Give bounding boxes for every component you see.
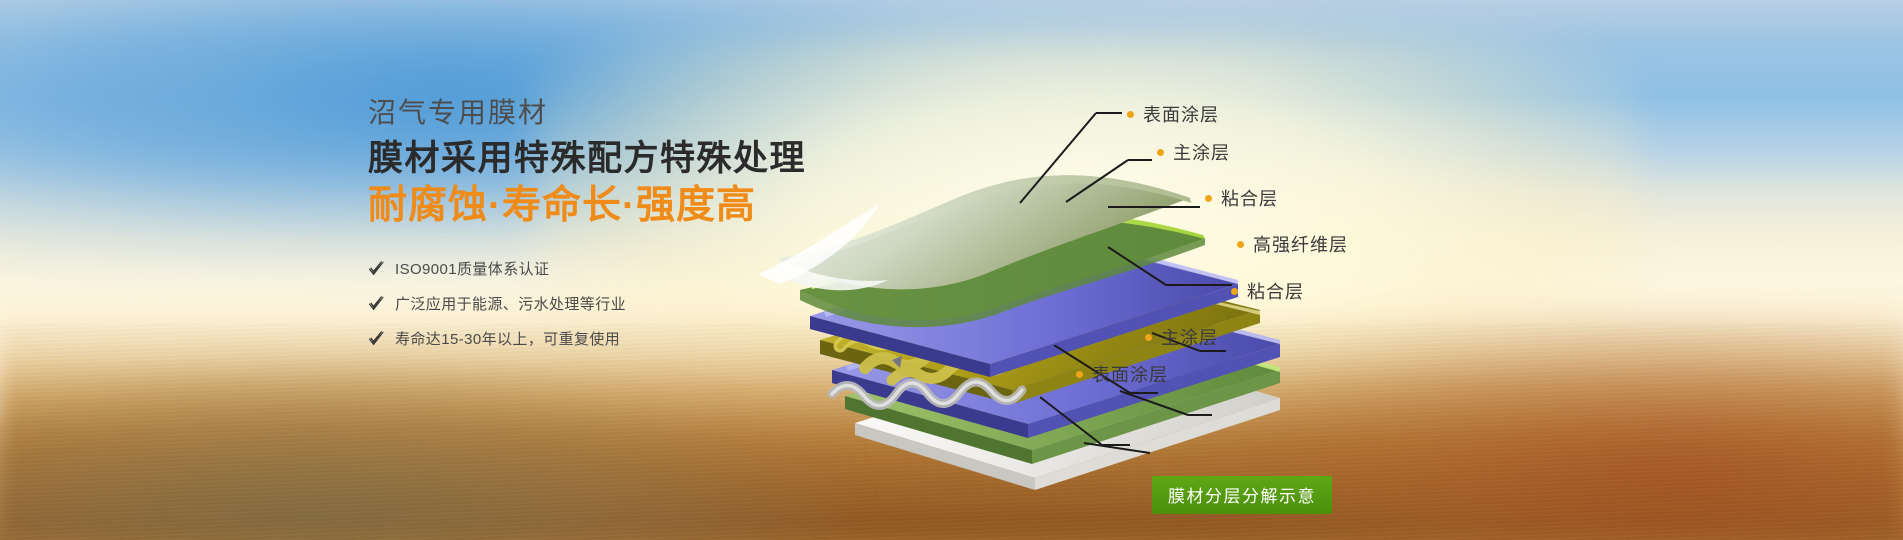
feature-label: ISO9001质量体系认证: [395, 258, 549, 279]
callout-label: 主涂层: [1161, 324, 1218, 350]
callout-label: 表面涂层: [1092, 361, 1168, 387]
check-icon: [368, 295, 385, 312]
callout-dot-icon: [1076, 371, 1083, 378]
callout-label: 高强纤维层: [1253, 231, 1348, 257]
callout-dot-icon: [1205, 195, 1212, 202]
callout-dot-icon: [1145, 334, 1152, 341]
callout-label: 主涂层: [1173, 139, 1230, 165]
callout-adhesive-bottom: 粘合层: [1231, 278, 1304, 304]
callout-dot-icon: [1237, 241, 1244, 248]
callout-surface-coat-top: 表面涂层: [1127, 101, 1219, 127]
callout-main-coat-top: 主涂层: [1157, 139, 1230, 165]
callout-label: 粘合层: [1221, 185, 1278, 211]
check-icon: [368, 330, 385, 347]
callout-label: 粘合层: [1247, 278, 1304, 304]
callout-dot-icon: [1231, 288, 1238, 295]
callout-dot-icon: [1157, 149, 1164, 156]
diagram-caption-badge: 膜材分层分解示意: [1152, 476, 1332, 514]
hero-banner: 沼气专用膜材 膜材采用特殊配方特殊处理 耐腐蚀·寿命长·强度高 ISO9001质…: [0, 0, 1903, 540]
check-icon: [368, 260, 385, 277]
callout-dot-icon: [1127, 111, 1134, 118]
callout-label: 表面涂层: [1143, 101, 1219, 127]
callout-surface-coat-bottom: 表面涂层: [1076, 361, 1168, 387]
callout-adhesive-top: 粘合层: [1205, 185, 1278, 211]
callout-fiber-layer: 高强纤维层: [1237, 231, 1348, 257]
feature-label: 寿命达15-30年以上，可重复使用: [395, 328, 620, 349]
callout-main-coat-bottom: 主涂层: [1145, 324, 1218, 350]
feature-label: 广泛应用于能源、污水处理等行业: [395, 293, 626, 314]
